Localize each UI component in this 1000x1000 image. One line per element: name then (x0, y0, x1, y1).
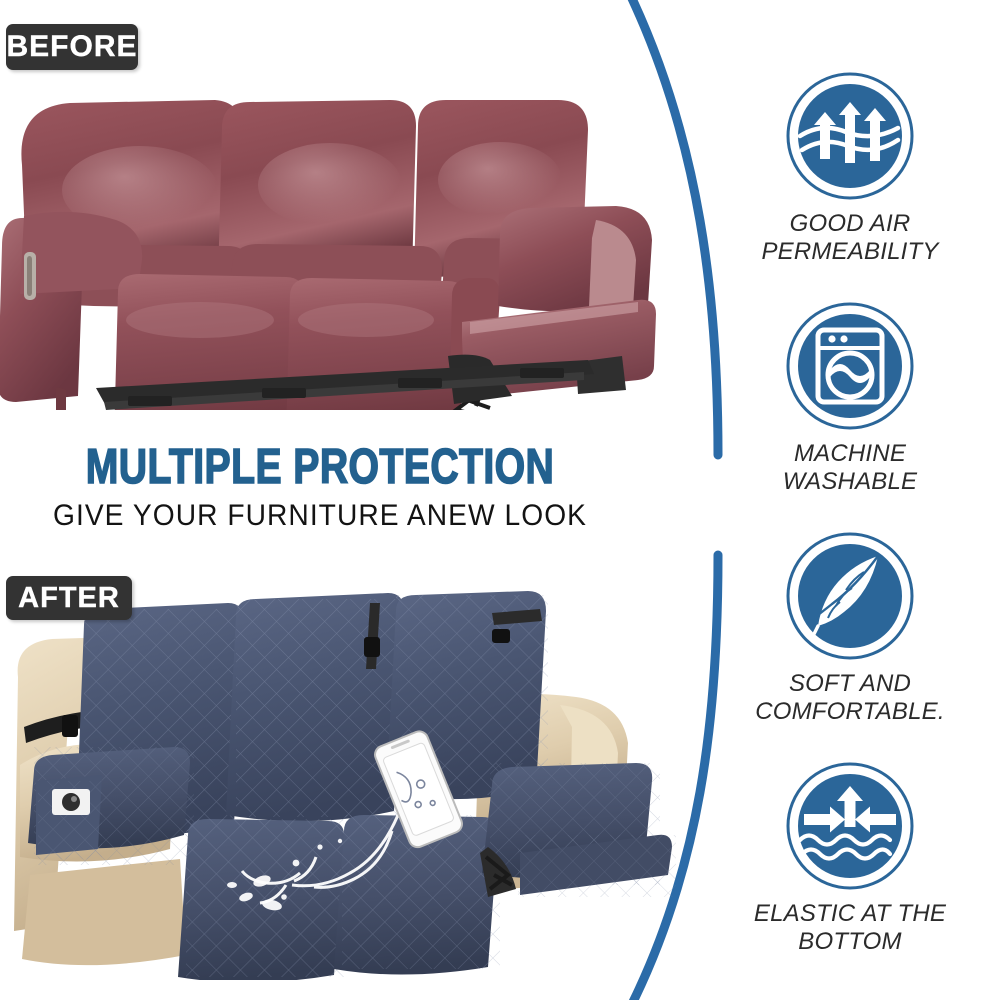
after-product-photo (0, 585, 690, 980)
elastic-bottom-icon (786, 762, 914, 890)
air-permeability-icon (786, 72, 914, 200)
headline-block: MULTIPLE PROTECTION GIVE YOUR FURNITURE … (0, 443, 640, 533)
feature-label-soft-comfortable: SOFT AND COMFORTABLE. (755, 670, 945, 727)
feature-item-elastic-bottom: ELASTIC AT THE BOTTOM (700, 762, 1000, 957)
washing-machine-icon (786, 302, 914, 430)
before-badge: BEFORE (6, 24, 138, 70)
headline-subtitle: GIVE YOUR FURNITURE ANEW LOOK (19, 499, 621, 533)
feature-label-air-permeability: GOOD AIR PERMEABILITY (761, 210, 938, 267)
feature-label-elastic-bottom: ELASTIC AT THE BOTTOM (754, 900, 946, 957)
feature-item-soft-comfortable: SOFT AND COMFORTABLE. (700, 532, 1000, 727)
feature-item-air-permeability: GOOD AIR PERMEABILITY (700, 72, 1000, 267)
after-badge: AFTER (6, 576, 132, 620)
before-product-photo (0, 70, 680, 410)
feature-label-machine-washable: MACHINE WASHABLE (783, 440, 918, 497)
headline-title: MULTIPLE PROTECTION (64, 443, 576, 492)
feature-item-machine-washable: MACHINE WASHABLE (700, 302, 1000, 497)
product-feature-infographic: BEFORE AFTER MULTIPLE PROTECTION GIVE YO… (0, 0, 1000, 1000)
feature-list: GOOD AIR PERMEABILITY MACHINE WASHABLE (700, 0, 1000, 1000)
feather-icon (786, 532, 914, 660)
